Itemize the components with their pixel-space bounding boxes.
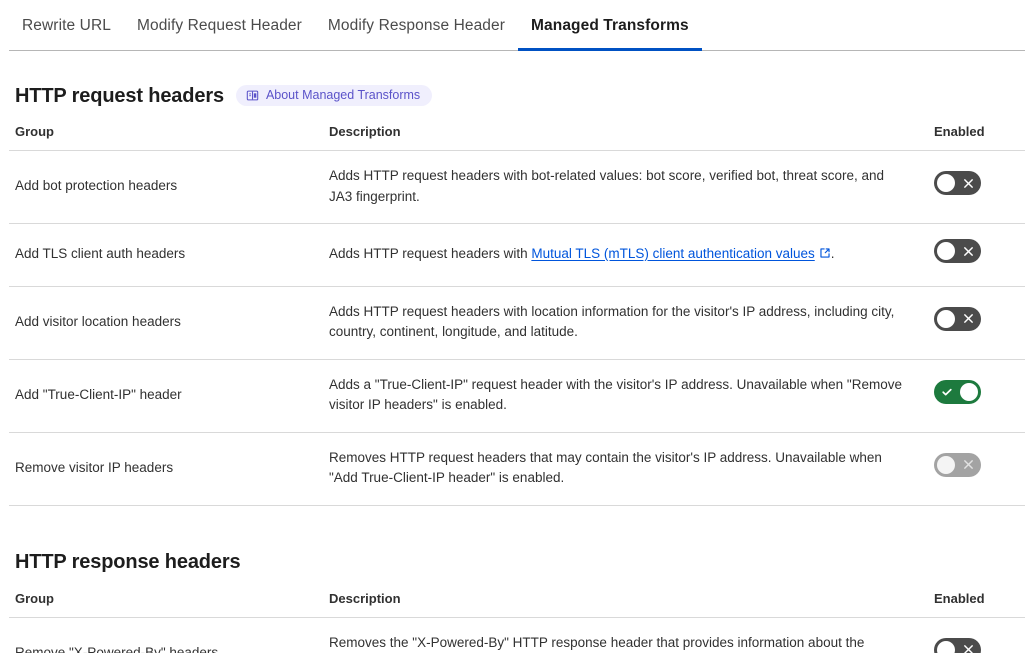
section-header-request: HTTP request headers About Managed Trans… xyxy=(9,85,1025,106)
check-icon xyxy=(941,380,953,404)
column-header-description: Description xyxy=(329,124,934,151)
description-prefix: Adds HTTP request headers with xyxy=(329,246,531,261)
page-content: HTTP request headers About Managed Trans… xyxy=(0,85,1034,653)
table-header-row: Group Description Enabled xyxy=(9,591,1025,618)
toggle-remove-visitor-ip-headers xyxy=(934,453,981,477)
tab-label: Modify Request Header xyxy=(137,17,302,35)
table-row: Add TLS client auth headers Adds HTTP re… xyxy=(9,224,1025,287)
page-title-request: HTTP request headers xyxy=(15,86,224,106)
row-enabled-cell xyxy=(934,432,1025,505)
row-enabled-cell xyxy=(934,224,1025,287)
row-group-name: Remove "X-Powered-By" headers xyxy=(9,617,329,653)
toggle-add-tls-client-auth-headers[interactable] xyxy=(934,239,981,263)
row-description: Removes HTTP request headers that may co… xyxy=(329,432,934,505)
row-description: Adds HTTP request headers with location … xyxy=(329,286,934,359)
tab-modify-response-header[interactable]: Modify Response Header xyxy=(315,0,518,51)
table-row: Remove visitor IP headers Removes HTTP r… xyxy=(9,432,1025,505)
toggle-knob xyxy=(937,174,955,192)
table-header-row: Group Description Enabled xyxy=(9,124,1025,151)
toggle-add-true-client-ip-header[interactable] xyxy=(934,380,981,404)
tab-label: Modify Response Header xyxy=(328,17,505,35)
toggle-add-visitor-location-headers[interactable] xyxy=(934,307,981,331)
row-group-name: Add "True-Client-IP" header xyxy=(9,359,329,432)
description-suffix: . xyxy=(831,246,835,261)
column-header-description: Description xyxy=(329,591,934,618)
tab-managed-transforms[interactable]: Managed Transforms xyxy=(518,0,702,51)
close-icon xyxy=(963,453,974,477)
column-header-group: Group xyxy=(9,591,329,618)
mtls-documentation-link[interactable]: Mutual TLS (mTLS) client authentication … xyxy=(531,246,814,261)
section-http-response-headers: HTTP response headers Group Description … xyxy=(9,552,1025,653)
close-icon xyxy=(963,638,974,653)
table-row: Remove "X-Powered-By" headers Removes th… xyxy=(9,617,1025,653)
request-headers-table: Group Description Enabled Add bot protec… xyxy=(9,124,1025,506)
row-group-name: Add visitor location headers xyxy=(9,286,329,359)
about-badge-label: About Managed Transforms xyxy=(266,89,420,102)
section-header-response: HTTP response headers xyxy=(9,552,1025,572)
row-enabled-cell xyxy=(934,286,1025,359)
book-icon xyxy=(246,89,259,102)
row-description: Adds a "True-Client-IP" request header w… xyxy=(329,359,934,432)
column-header-group: Group xyxy=(9,124,329,151)
about-managed-transforms-badge[interactable]: About Managed Transforms xyxy=(236,85,432,106)
toggle-knob xyxy=(937,641,955,653)
row-group-name: Add bot protection headers xyxy=(9,151,329,224)
section-spacer xyxy=(9,506,1025,552)
table-row: Add visitor location headers Adds HTTP r… xyxy=(9,286,1025,359)
column-header-enabled: Enabled xyxy=(934,591,1025,618)
close-icon xyxy=(963,239,974,263)
row-enabled-cell xyxy=(934,359,1025,432)
row-description: Adds HTTP request headers with Mutual TL… xyxy=(329,224,934,287)
row-group-name: Remove visitor IP headers xyxy=(9,432,329,505)
tab-rewrite-url[interactable]: Rewrite URL xyxy=(9,0,124,51)
close-icon xyxy=(963,307,974,331)
page-title-response: HTTP response headers xyxy=(15,552,240,572)
external-link-icon[interactable] xyxy=(819,245,831,266)
column-header-enabled: Enabled xyxy=(934,124,1025,151)
table-row: Add "True-Client-IP" header Adds a "True… xyxy=(9,359,1025,432)
close-icon xyxy=(963,171,974,195)
toggle-knob xyxy=(937,310,955,328)
toggle-remove-x-powered-by-headers[interactable] xyxy=(934,638,981,653)
tab-bar: Rewrite URL Modify Request Header Modify… xyxy=(0,0,1034,51)
toggle-add-bot-protection-headers[interactable] xyxy=(934,171,981,195)
row-group-name: Add TLS client auth headers xyxy=(9,224,329,287)
toggle-knob xyxy=(960,383,978,401)
tab-label: Rewrite URL xyxy=(22,17,111,35)
response-headers-table: Group Description Enabled Remove "X-Powe… xyxy=(9,591,1025,653)
toggle-knob xyxy=(937,456,955,474)
toggle-knob xyxy=(937,242,955,260)
row-enabled-cell xyxy=(934,151,1025,224)
tab-label: Managed Transforms xyxy=(531,17,689,35)
section-http-request-headers: HTTP request headers About Managed Trans… xyxy=(9,85,1025,506)
tab-modify-request-header[interactable]: Modify Request Header xyxy=(124,0,315,51)
row-enabled-cell xyxy=(934,617,1025,653)
row-description: Removes the "X-Powered-By" HTTP response… xyxy=(329,617,934,653)
table-row: Add bot protection headers Adds HTTP req… xyxy=(9,151,1025,224)
row-description: Adds HTTP request headers with bot-relat… xyxy=(329,151,934,224)
